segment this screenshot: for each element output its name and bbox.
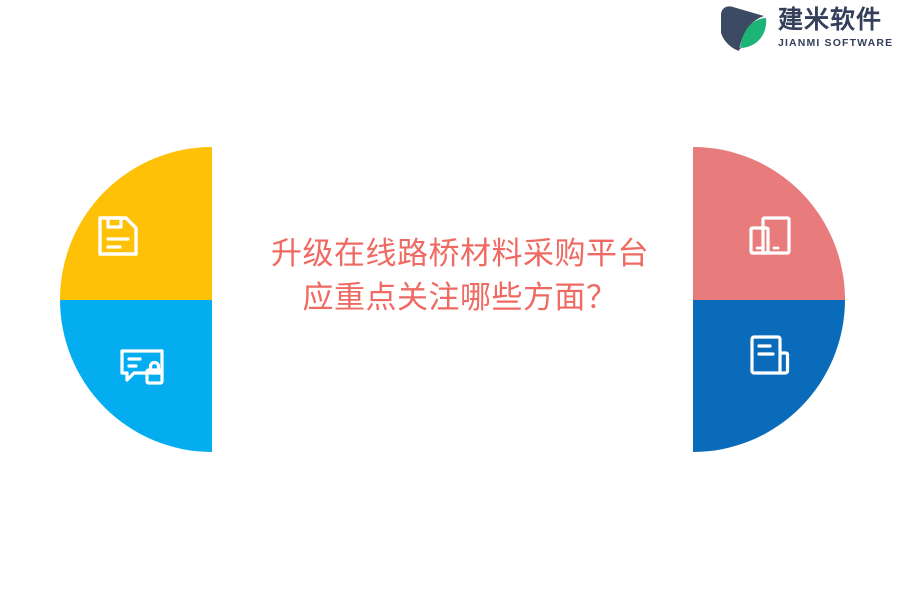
brand-name-en: JIANMI SOFTWARE — [778, 38, 893, 49]
jianmi-logo-icon — [718, 3, 772, 53]
page-title: 升级在线路桥材料采购平台 应重点关注哪些方面？ — [225, 232, 695, 320]
right-decor-panel — [693, 147, 845, 452]
brand-logo[interactable]: 建米软件 JIANMI SOFTWARE — [718, 0, 900, 55]
brand-text-block: 建米软件 JIANMI SOFTWARE — [778, 7, 893, 49]
left-decor-panel — [60, 147, 212, 452]
brand-name-cn: 建米软件 — [778, 8, 893, 33]
devices-icon — [746, 213, 794, 261]
document-save-icon — [94, 212, 142, 260]
chat-lock-icon — [118, 343, 166, 391]
report-document-icon — [746, 331, 794, 379]
page-canvas: 建米软件 JIANMI SOFTWARE — [0, 0, 900, 600]
